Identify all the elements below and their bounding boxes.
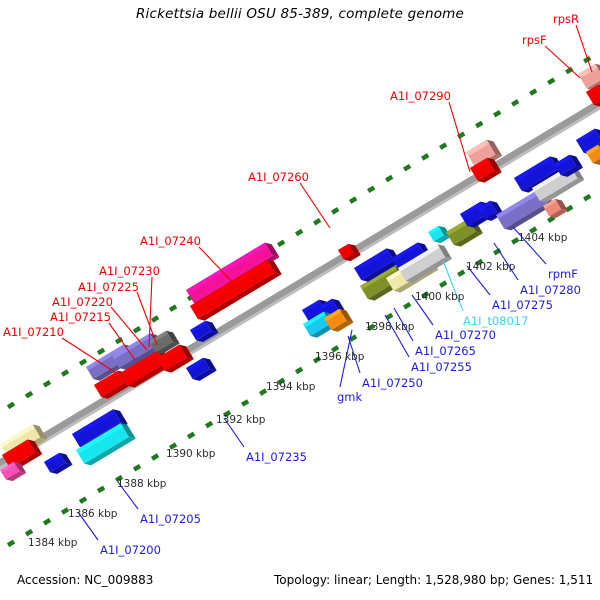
axis-tick-label: 1386 kbp	[68, 509, 117, 521]
label-leader-line	[443, 261, 463, 311]
label-leader-line	[449, 102, 470, 172]
gene-label[interactable]: rpmF	[548, 269, 578, 281]
axis-tick-label: 1404 kbp	[518, 233, 567, 245]
gene-label[interactable]: A1I_07200	[100, 545, 161, 557]
axis-tick-label: 1400 kbp	[415, 292, 464, 304]
gene-label[interactable]: rpsR	[553, 14, 579, 26]
gene-label[interactable]: A1I_07225	[78, 282, 139, 294]
genome-viewer-window: Rickettsia bellii OSU 85-389, complete g…	[0, 0, 600, 600]
gene-label[interactable]: A1I_07230	[99, 266, 160, 278]
axis-tick-label: 1388 kbp	[117, 479, 166, 491]
label-leader-line	[545, 46, 580, 78]
gene-label[interactable]: A1I_07220	[52, 297, 113, 309]
gene-label[interactable]: A1I_07240	[140, 236, 201, 248]
gene-label[interactable]: A1I_07215	[50, 312, 111, 324]
gene-label[interactable]: A1I_07205	[140, 514, 201, 526]
gene-label[interactable]: A1I_07250	[362, 378, 423, 390]
gene-label[interactable]: rpsF	[522, 35, 547, 47]
gene-label[interactable]: A1I_07235	[246, 452, 307, 464]
topology-text: Topology: linear; Length: 1,528,980 bp; …	[274, 573, 593, 587]
gene-label[interactable]: A1I_t08017	[463, 316, 528, 328]
gene-label[interactable]: A1I_07210	[3, 327, 64, 339]
gene-label[interactable]: A1I_07280	[520, 285, 581, 297]
gene-label[interactable]: A1I_07270	[435, 330, 496, 342]
gene-label[interactable]: A1I_07255	[411, 362, 472, 374]
axis-tick-label: 1402 kbp	[466, 262, 515, 274]
gene-label[interactable]: gmk	[337, 392, 362, 404]
gene-blue-1[interactable]	[44, 450, 72, 476]
gene-cyan-3[interactable]	[428, 223, 451, 245]
gene-label[interactable]: A1I_07290	[390, 91, 451, 103]
axis-tick-label: 1396 kbp	[315, 352, 364, 364]
axis-tick-label: 1398 kbp	[365, 322, 414, 334]
gene-label[interactable]: A1I_07260	[248, 172, 309, 184]
axis-tick-label: 1384 kbp	[28, 538, 77, 550]
gene-label[interactable]: A1I_07275	[492, 300, 553, 312]
axis-tick-label: 1394 kbp	[266, 382, 315, 394]
label-leader-line	[111, 307, 147, 350]
status-bar: Accession: NC_009883 Topology: linear; L…	[0, 565, 600, 600]
axis-tick-label: 1390 kbp	[166, 449, 215, 461]
accession-text: Accession: NC_009883	[17, 573, 153, 587]
label-leader-line	[576, 25, 592, 72]
gene-label[interactable]: A1I_07265	[415, 346, 476, 358]
axis-tick-label: 1392 kbp	[216, 415, 265, 427]
guide-line-upper	[0, 46, 600, 418]
